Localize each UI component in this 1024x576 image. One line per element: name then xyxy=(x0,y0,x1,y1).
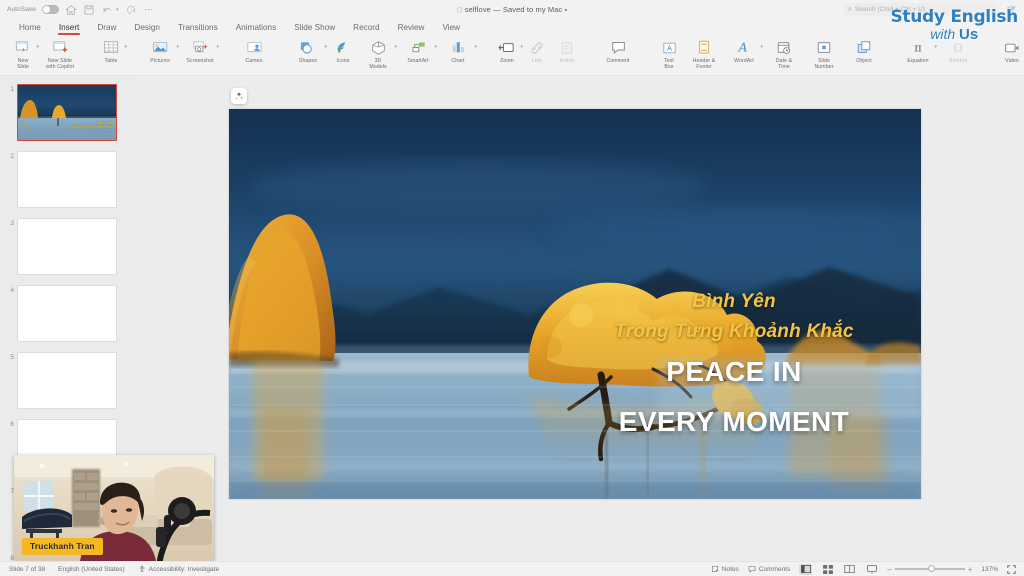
ribbon-group-table: ▾ Table xyxy=(92,36,130,74)
status-bar: Slide 7 of 38 English (United States) Ac… xyxy=(0,561,1024,576)
zoom-track[interactable] xyxy=(895,568,965,570)
ribbon-video-label: Video xyxy=(1005,58,1019,64)
ribbon-table[interactable]: ▾ Table xyxy=(96,36,126,64)
zoom-out-button[interactable]: – xyxy=(887,565,891,574)
ribbon-group-images: ▾ Pictures ▾ Screenshot xyxy=(136,36,224,74)
smartart-icon xyxy=(409,38,427,57)
ribbon-action-label: Action xyxy=(559,58,574,64)
screenshot-dropdown-icon[interactable]: ▾ xyxy=(216,44,219,50)
notes-button[interactable]: Notes xyxy=(711,565,739,573)
ribbon-icons[interactable]: Icons xyxy=(328,36,358,64)
tab-record[interactable]: Record xyxy=(344,19,388,36)
tab-draw[interactable]: Draw xyxy=(88,19,125,36)
comments-status-button[interactable]: Comments xyxy=(748,565,790,573)
video-icon xyxy=(1004,38,1021,57)
shapes-icon xyxy=(299,38,317,57)
slide-english-line-1: PEACE IN xyxy=(569,347,899,397)
status-left: Slide 7 of 38 English (United States) Ac… xyxy=(0,565,219,573)
ribbon-group-illustrations: ▾ Shapes Icons xyxy=(284,36,482,74)
thumbnail-number: 4 xyxy=(0,285,17,296)
ribbon-text-box-label: Text Box xyxy=(664,58,674,70)
fit-to-window-icon[interactable] xyxy=(1007,565,1016,574)
wordart-icon: A xyxy=(736,38,752,57)
ribbon-link-label: Link xyxy=(532,58,542,64)
equation-dropdown-icon[interactable]: ▾ xyxy=(934,44,937,50)
ribbon-video[interactable]: ▾ Video xyxy=(992,36,1024,64)
ribbon-group-links: ▾ Zoom Link Acti xyxy=(488,36,586,74)
3d-models-icon xyxy=(370,38,387,57)
table-dropdown-icon[interactable]: ▾ xyxy=(124,44,127,50)
slide-canvas: Bình Yên Trong Từng Khoảnh Khắc PEACE IN… xyxy=(131,76,1024,561)
ribbon-chart[interactable]: ▾ Chart xyxy=(438,36,478,64)
slide-thumbnail-4[interactable] xyxy=(17,285,117,342)
ribbon-equation-label: Equation xyxy=(907,58,928,64)
slide-count[interactable]: Slide 7 of 38 xyxy=(9,566,45,573)
wordart-dropdown-icon[interactable]: ▾ xyxy=(760,44,763,50)
ribbon-zoom[interactable]: ▾ Zoom xyxy=(492,36,522,64)
powerpoint-window: AutoSave ▾ ⋯ ⬡selflove — Saved to my Mac… xyxy=(0,0,1024,576)
tab-animations[interactable]: Animations xyxy=(227,19,286,36)
slide-thumbnail-5[interactable] xyxy=(17,352,117,409)
thumbnail-row: 1 xyxy=(0,76,131,141)
new-slide-icon xyxy=(15,38,32,57)
ribbon-icons-label: Icons xyxy=(337,58,350,64)
thumbnail-number: 5 xyxy=(0,352,17,363)
ribbon-screenshot-label: Screenshot xyxy=(186,58,213,64)
pictures-dropdown-icon[interactable]: ▾ xyxy=(176,44,179,50)
view-slide-sorter-button[interactable] xyxy=(821,564,834,575)
object-icon xyxy=(856,38,872,57)
tab-design[interactable]: Design xyxy=(125,19,169,36)
comments-status-label: Comments xyxy=(759,566,790,573)
pictures-icon xyxy=(152,38,169,57)
3d-models-dropdown-icon[interactable]: ▾ xyxy=(394,44,397,50)
thumbnail-row: 4 xyxy=(0,275,131,342)
svg-text:A: A xyxy=(738,40,748,54)
comment-bubble-icon xyxy=(748,565,756,573)
tab-view[interactable]: View xyxy=(433,19,469,36)
zoom-slider[interactable]: – + xyxy=(887,565,972,574)
ribbon-object[interactable]: Object xyxy=(844,36,884,64)
ribbon-shapes[interactable]: ▾ Shapes xyxy=(288,36,328,64)
presenter-name-badge: Truckhanh Tran xyxy=(22,538,103,555)
ribbon-action: Action xyxy=(552,36,582,64)
thumbnail-text: Bình Yên Trong Từng Khoảnh Khắc xyxy=(69,121,113,130)
zoom-in-button[interactable]: + xyxy=(968,565,973,574)
accessibility-label: Accessibility: Investigate xyxy=(149,566,219,573)
ribbon-screenshot[interactable]: ▾ Screenshot xyxy=(180,36,220,64)
thumbnail-number: 6 xyxy=(0,419,17,430)
ribbon-wordart-label: WordArt xyxy=(734,58,754,64)
link-icon xyxy=(529,38,545,57)
ribbon-3d-models[interactable]: ▾ 3D Models xyxy=(358,36,398,70)
search-placeholder: Search (Cmd + Ctrl + U) xyxy=(855,6,925,13)
ribbon-object-label: Object xyxy=(856,58,872,64)
thumbnail-image xyxy=(18,85,116,140)
view-normal-button[interactable] xyxy=(799,564,812,575)
ribbon-display-options-icon[interactable] xyxy=(1005,4,1016,15)
ribbon-table-label: Table xyxy=(105,58,118,64)
ribbon-new-slide-copilot[interactable]: New Slide with Copilot xyxy=(38,36,82,70)
thumbnail-number: 3 xyxy=(0,218,17,229)
action-icon xyxy=(560,38,574,57)
new-slide-copilot-icon xyxy=(52,38,69,57)
ribbon-new-slide-label: New Slide xyxy=(17,58,29,70)
ribbon-equation[interactable]: π ▾ Equation xyxy=(898,36,938,64)
ribbon-header-footer[interactable]: Header & Footer xyxy=(684,36,724,70)
slide-vietnamese-line-2: Trong Từng Khoảnh Khắc xyxy=(569,317,899,347)
ribbon: ▾ New Slide New Slide with Copilot xyxy=(0,36,1024,76)
ribbon-shapes-label: Shapes xyxy=(299,58,317,64)
ribbon-date-time[interactable]: Date & Time xyxy=(764,36,804,70)
ribbon-slide-number-label: Slide Number xyxy=(814,58,833,70)
ribbon-smartart-label: SmartArt xyxy=(407,58,428,64)
ribbon-comment[interactable]: Comment xyxy=(596,36,640,64)
smartart-dropdown-icon[interactable]: ▾ xyxy=(434,44,437,50)
header-footer-icon xyxy=(697,38,711,57)
ribbon-zoom-label: Zoom xyxy=(500,58,514,64)
ribbon-wordart[interactable]: A ▾ WordArt xyxy=(724,36,764,64)
ribbon-pictures[interactable]: ▾ Pictures xyxy=(140,36,180,64)
zoom-level-label[interactable]: 137% xyxy=(981,566,998,573)
tab-transitions[interactable]: Transitions xyxy=(169,19,227,36)
ribbon-new-slide-copilot-label: New Slide with Copilot xyxy=(46,58,74,70)
chart-dropdown-icon[interactable]: ▾ xyxy=(474,44,477,50)
screenshot-icon xyxy=(192,38,209,57)
table-icon xyxy=(103,38,119,57)
thumbnail-number: 1 xyxy=(0,84,17,95)
slide-number-icon xyxy=(816,38,832,57)
ribbon-group-cameo: Cameo xyxy=(230,36,278,74)
svg-text:A: A xyxy=(667,44,672,52)
status-right: Notes Comments – xyxy=(711,564,1016,575)
ribbon-date-time-label: Date & Time xyxy=(776,58,792,70)
ribbon-symbol: Ω Symbol xyxy=(938,36,978,64)
ribbon-group-symbols: π ▾ Equation Ω Symbol xyxy=(894,36,982,74)
slide-english-line-2: EVERY MOMENT xyxy=(569,397,899,447)
ribbon-group-media: ▾ Video ▾ Audio xyxy=(988,36,1024,74)
slide-text-block[interactable]: Bình Yên Trong Từng Khoảnh Khắc PEACE IN… xyxy=(569,287,899,447)
title-bar: AutoSave ▾ ⋯ ⬡selflove — Saved to my Mac… xyxy=(0,0,1024,19)
ribbon-smartart[interactable]: ▾ SmartArt xyxy=(398,36,438,64)
slide-thumbnail-3[interactable] xyxy=(17,218,117,275)
document-title[interactable]: selflove — Saved to my Mac xyxy=(465,5,563,14)
ribbon-group-text: A Text Box Header & Footer A xyxy=(650,36,888,74)
notes-label: Notes xyxy=(722,566,739,573)
accessibility-icon xyxy=(138,565,146,573)
thumbnail-number: 2 xyxy=(0,151,17,162)
view-presenter-button[interactable] xyxy=(865,564,878,575)
zoom-knob[interactable] xyxy=(928,565,935,572)
svg-text:Ω: Ω xyxy=(953,40,963,54)
ribbon-new-slide[interactable]: ▾ New Slide xyxy=(8,36,38,70)
ribbon-chart-label: Chart xyxy=(451,58,464,64)
slide-vietnamese-line-1: Bình Yên xyxy=(569,287,899,317)
zoom-icon xyxy=(498,38,516,57)
accessibility-status[interactable]: Accessibility: Investigate xyxy=(138,565,219,573)
view-reading-button[interactable] xyxy=(843,564,856,575)
comment-icon xyxy=(610,38,627,57)
tab-insert[interactable]: Insert xyxy=(50,19,88,36)
notes-icon xyxy=(711,565,719,573)
ribbon-header-footer-label: Header & Footer xyxy=(693,58,716,70)
tab-home[interactable]: Home xyxy=(10,19,50,36)
ribbon-group-slides: ▾ New Slide New Slide with Copilot xyxy=(4,36,86,74)
title-dropdown-icon[interactable]: ▾ xyxy=(564,8,567,14)
text-box-icon: A xyxy=(662,38,677,57)
chart-icon xyxy=(450,38,466,57)
thumbnail-row: 3 xyxy=(0,208,131,275)
search-icon: ⌕ xyxy=(848,6,852,14)
ribbon-slide-number[interactable]: Slide Number xyxy=(804,36,844,70)
designer-sparkle-icon[interactable] xyxy=(231,88,247,104)
cloud-status-icon: ⬡ xyxy=(457,7,463,14)
thumbnail-row: 5 xyxy=(0,342,131,409)
tab-review[interactable]: Review xyxy=(389,19,434,36)
presenter-webcam-overlay[interactable]: Truckhanh Tran xyxy=(14,455,214,561)
ribbon-group-comments: Comment xyxy=(592,36,644,74)
ribbon-pictures-label: Pictures xyxy=(150,58,170,64)
ribbon-text-box[interactable]: A Text Box xyxy=(654,36,684,70)
ribbon-link: Link xyxy=(522,36,552,64)
language-indicator[interactable]: English (United States) xyxy=(58,566,124,573)
icons-icon xyxy=(335,38,352,57)
shapes-dropdown-icon[interactable]: ▾ xyxy=(324,44,327,50)
slide-thumbnail-2[interactable] xyxy=(17,151,117,208)
ribbon-3d-models-label: 3D Models xyxy=(369,58,386,70)
date-time-icon xyxy=(776,38,792,57)
svg-text:π: π xyxy=(914,40,922,54)
slide-thumbnail-1[interactable]: Bình Yên Trong Từng Khoảnh Khắc xyxy=(17,84,117,141)
ribbon-cameo[interactable]: Cameo xyxy=(234,36,274,64)
search-box[interactable]: ⌕ Search (Cmd + Ctrl + U) xyxy=(843,3,998,16)
cameo-icon xyxy=(246,38,263,57)
equation-icon: π xyxy=(910,38,926,57)
thumbnail-row: 2 xyxy=(0,141,131,208)
ribbon-symbol-label: Symbol xyxy=(949,58,967,64)
ribbon-cameo-label: Cameo xyxy=(245,58,262,64)
ribbon-comment-label: Comment xyxy=(606,58,629,64)
current-slide[interactable]: Bình Yên Trong Từng Khoảnh Khắc PEACE IN… xyxy=(229,109,921,499)
ribbon-tab-bar: Home Insert Draw Design Transitions Anim… xyxy=(0,19,1024,36)
symbol-icon: Ω xyxy=(950,38,966,57)
tab-slide-show[interactable]: Slide Show xyxy=(285,19,344,36)
